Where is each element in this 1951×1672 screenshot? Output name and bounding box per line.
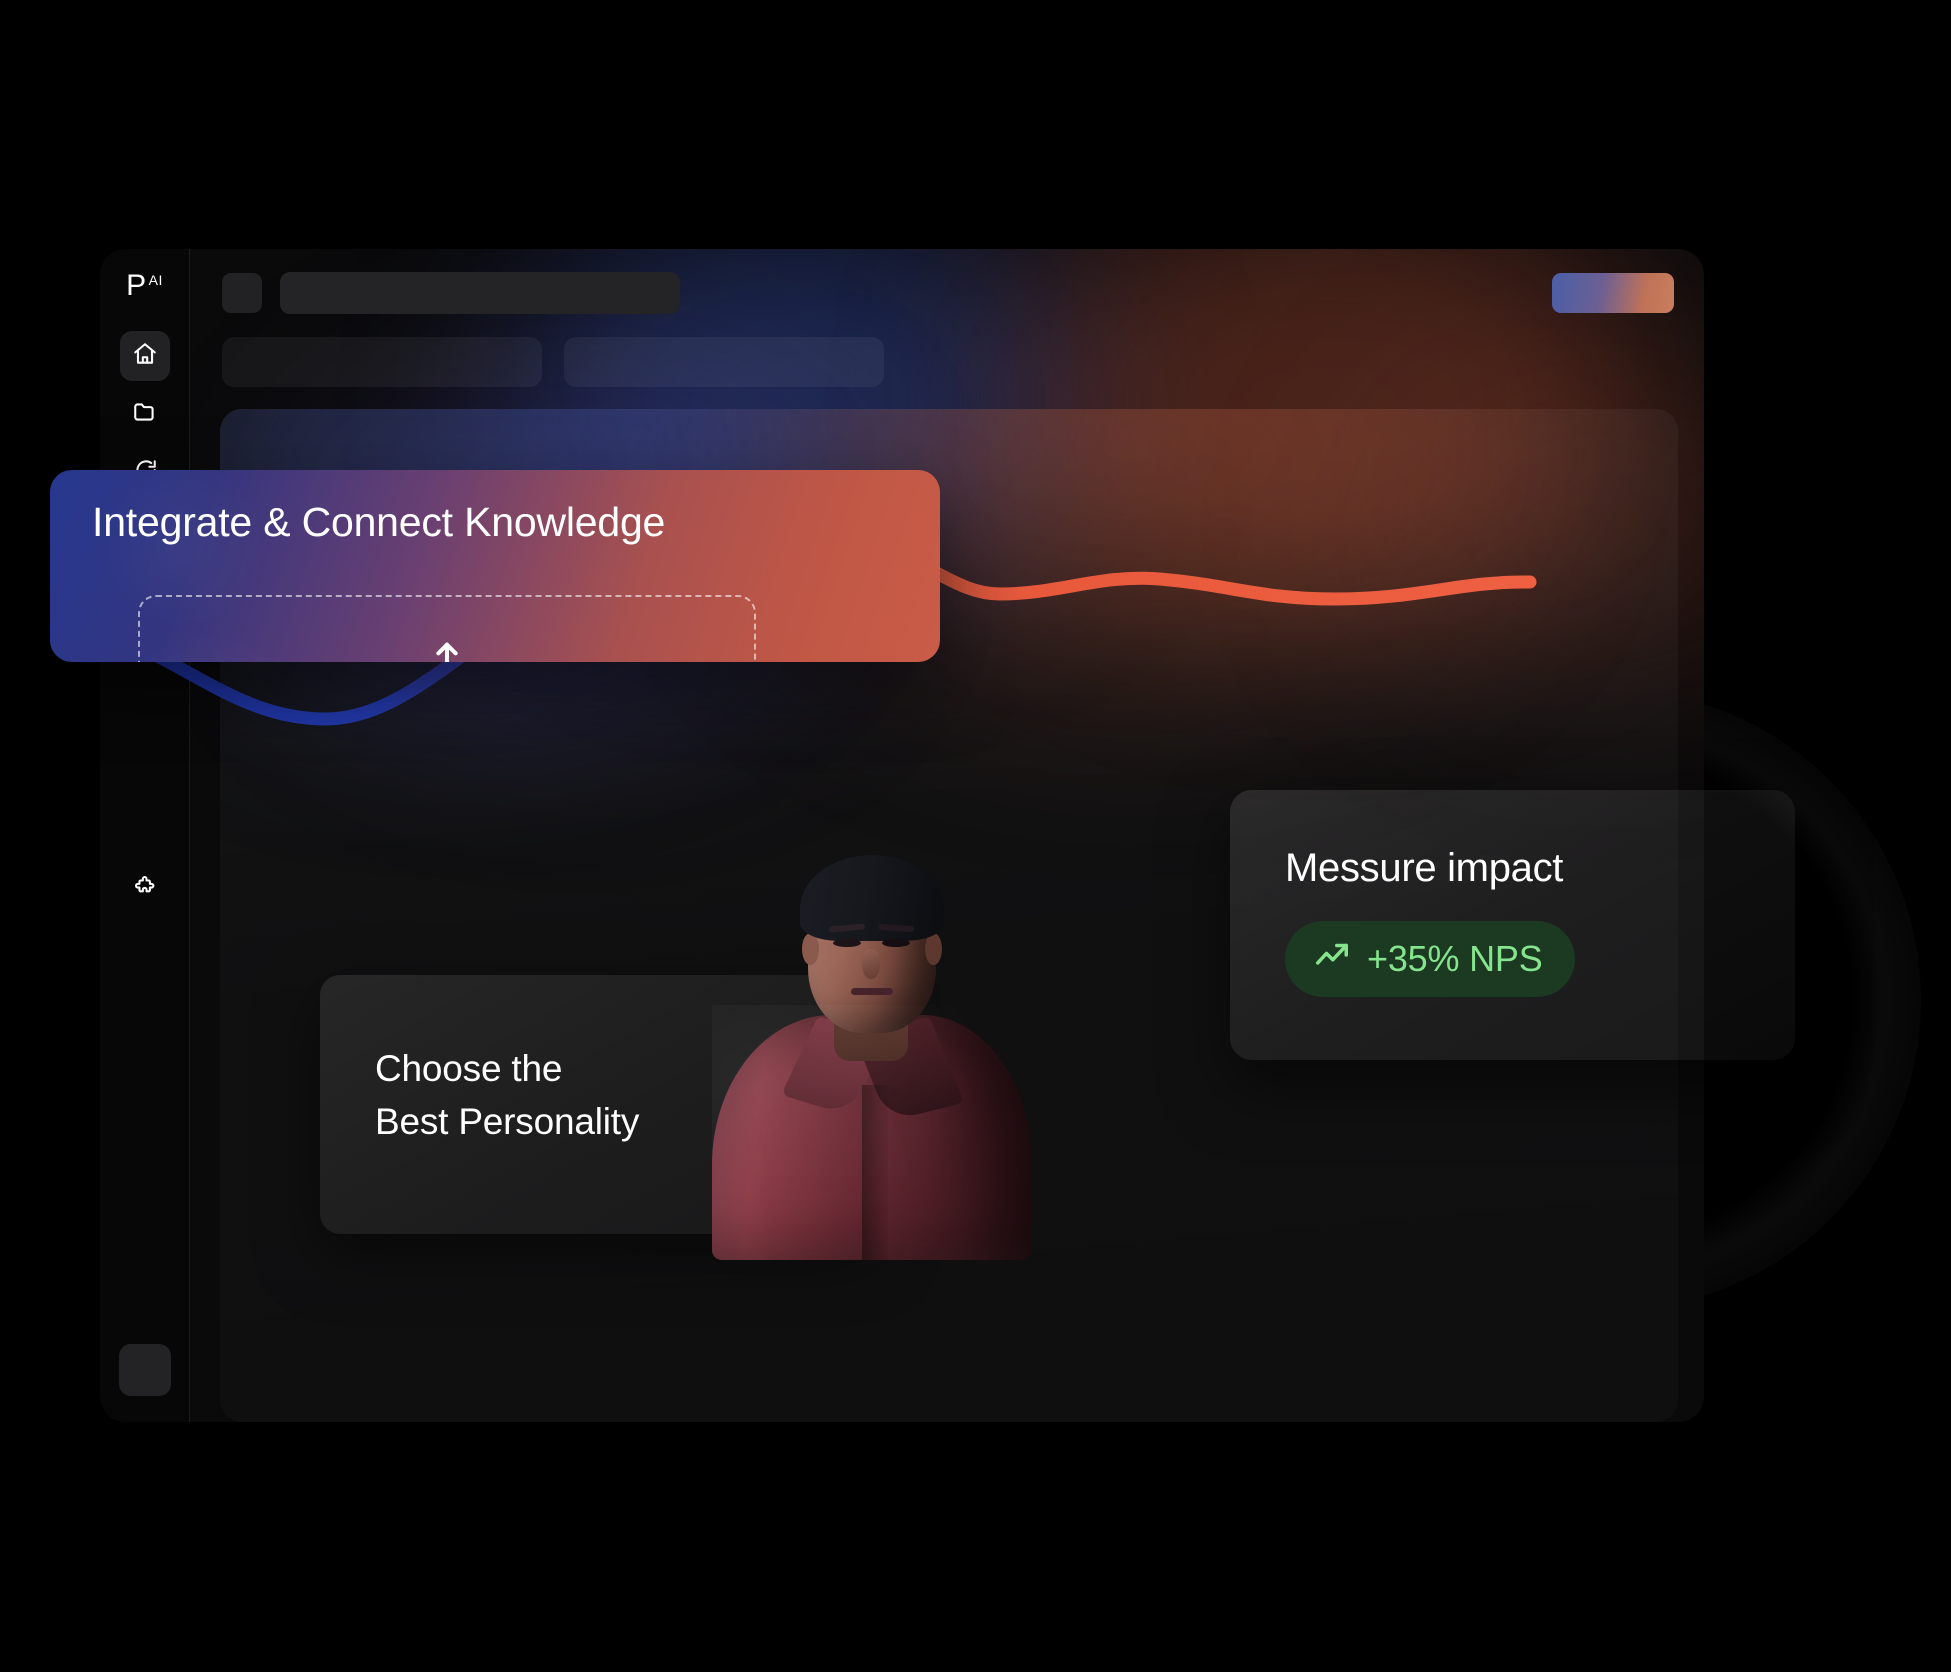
nps-status-badge: +35% NPS — [1285, 921, 1575, 997]
primary-cta-button[interactable] — [1552, 273, 1674, 313]
nps-badge-value: +35% NPS — [1367, 938, 1543, 980]
filter-pill-2[interactable] — [564, 337, 884, 387]
trending-up-icon — [1313, 936, 1351, 983]
home-icon — [132, 341, 158, 372]
logo-superscript: AI — [149, 273, 163, 287]
search-input[interactable] — [280, 272, 680, 314]
sidebar-bottom — [120, 864, 170, 914]
personality-line-2: Best Personality — [375, 1096, 639, 1149]
integrate-knowledge-card[interactable]: Integrate & Connect Knowledge — [50, 470, 940, 662]
menu-button[interactable] — [222, 273, 262, 313]
sidebar: P AI — [100, 249, 190, 1422]
choose-personality-card[interactable]: Choose the Best Personality — [320, 975, 874, 1234]
app-logo[interactable]: P AI — [126, 271, 163, 301]
avatar[interactable] — [119, 1344, 171, 1396]
sidebar-item-files[interactable] — [120, 389, 170, 439]
sidebar-item-home[interactable] — [120, 331, 170, 381]
personality-line-1: Choose the — [375, 1043, 639, 1096]
filter-pill-1[interactable] — [222, 337, 542, 387]
messure-impact-card[interactable]: Messure impact +35% NPS — [1230, 790, 1795, 1060]
upload-icon — [424, 637, 470, 662]
file-dropzone[interactable] — [138, 595, 756, 662]
filter-pill-row — [190, 337, 1704, 387]
personality-card-text: Choose the Best Personality — [375, 1043, 639, 1148]
folder-icon — [132, 399, 158, 430]
screenshot-root: P AI — [0, 0, 1951, 1672]
puzzle-icon — [132, 874, 158, 905]
sidebar-item-integrations[interactable] — [120, 864, 170, 914]
impact-card-title: Messure impact — [1285, 848, 1795, 888]
logo-letter: P — [126, 271, 146, 301]
integrate-card-title: Integrate & Connect Knowledge — [92, 500, 898, 545]
topbar — [190, 249, 1704, 337]
